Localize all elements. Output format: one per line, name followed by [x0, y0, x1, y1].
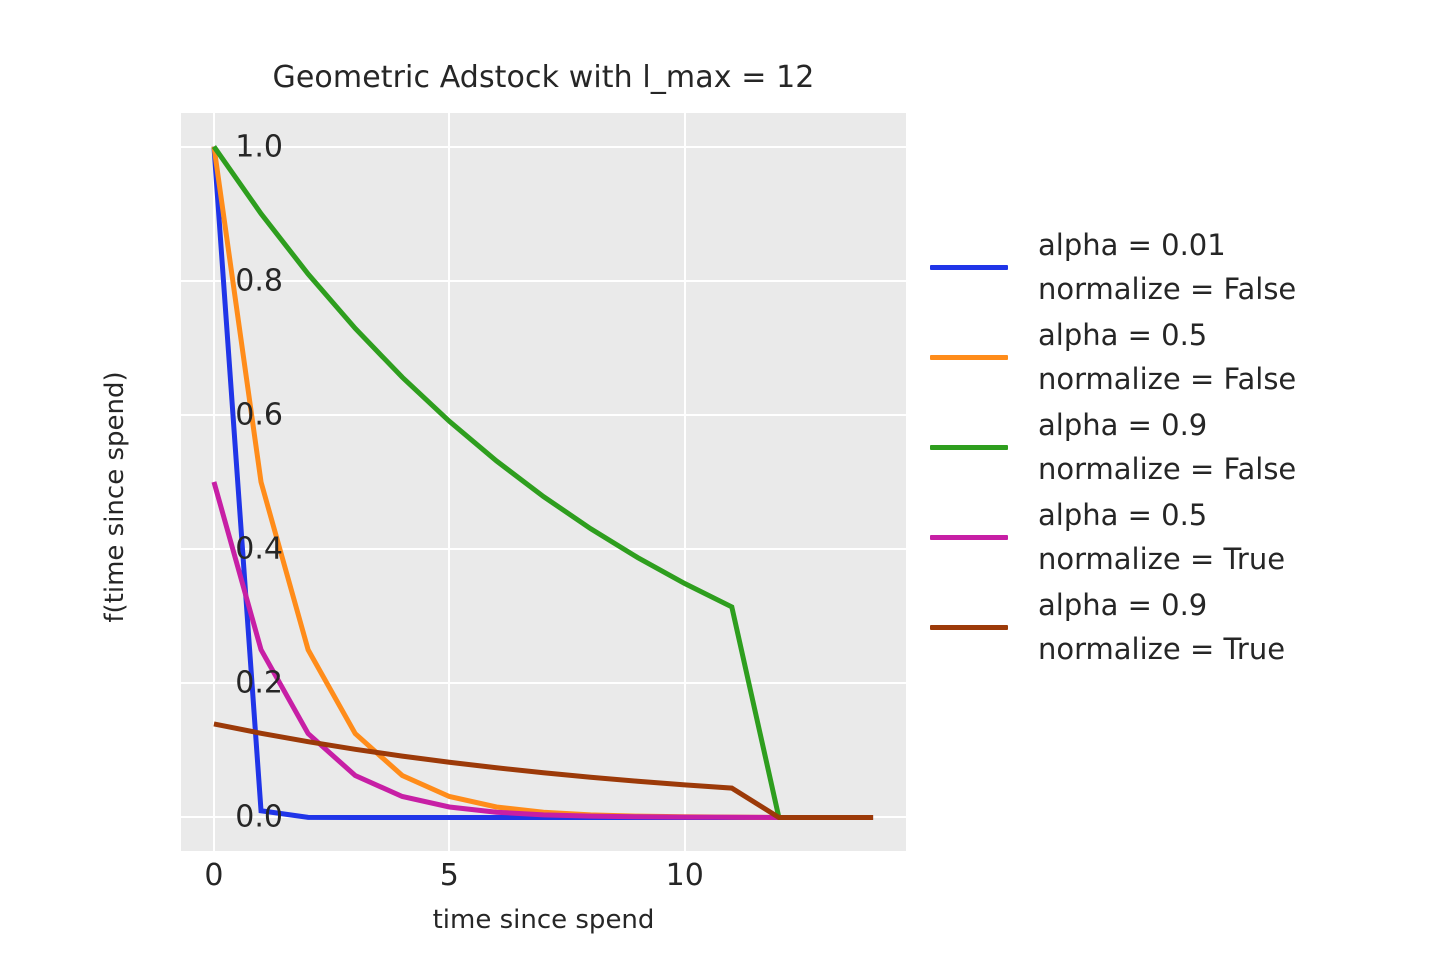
legend-swatch-line-icon: [930, 445, 1008, 450]
y-tick-label: 0.0: [163, 800, 283, 835]
x-tick-label: 10: [625, 858, 745, 893]
legend-item[interactable]: alpha = 0.9normalize = True: [930, 582, 1430, 672]
legend-label: alpha = 0.01normalize = False: [1038, 223, 1296, 311]
x-tick-label: 5: [389, 858, 509, 893]
y-axis-label: f(time since spend): [100, 127, 130, 867]
x-tick-label: 0: [154, 858, 274, 893]
legend-label-normalize: normalize = False: [1038, 447, 1296, 491]
legend-label-normalize: normalize = False: [1038, 357, 1296, 401]
legend-label: alpha = 0.9normalize = True: [1038, 583, 1285, 671]
y-tick-label: 0.6: [163, 397, 283, 432]
legend-label-alpha: alpha = 0.9: [1038, 408, 1207, 442]
y-tick-label: 0.8: [163, 263, 283, 298]
y-tick-label: 0.2: [163, 666, 283, 701]
data-line-0: [214, 147, 873, 818]
chart-title: Geometric Adstock with l_max = 12: [181, 60, 906, 95]
legend-label: alpha = 0.5normalize = True: [1038, 493, 1285, 581]
legend-label: alpha = 0.5normalize = False: [1038, 313, 1296, 401]
chart-legend: alpha = 0.01normalize = Falsealpha = 0.5…: [930, 222, 1430, 672]
legend-label-alpha: alpha = 0.01: [1038, 228, 1226, 262]
legend-item[interactable]: alpha = 0.5normalize = False: [930, 312, 1430, 402]
legend-item[interactable]: alpha = 0.5normalize = True: [930, 492, 1430, 582]
x-axis-label: time since spend: [181, 905, 906, 935]
data-line-1: [214, 147, 873, 818]
legend-item[interactable]: alpha = 0.01normalize = False: [930, 222, 1430, 312]
legend-label-normalize: normalize = True: [1038, 627, 1285, 671]
legend-swatch-line-icon: [930, 355, 1008, 360]
legend-label-normalize: normalize = False: [1038, 267, 1296, 311]
legend-swatch-line-icon: [930, 625, 1008, 630]
plot-area: [181, 113, 906, 851]
legend-label: alpha = 0.9normalize = False: [1038, 403, 1296, 491]
chart-lines: [181, 113, 906, 851]
data-line-3: [214, 482, 873, 818]
y-tick-label: 1.0: [163, 129, 283, 164]
legend-swatch-line-icon: [930, 265, 1008, 270]
legend-label-normalize: normalize = True: [1038, 537, 1285, 581]
legend-item[interactable]: alpha = 0.9normalize = False: [930, 402, 1430, 492]
legend-label-alpha: alpha = 0.5: [1038, 318, 1207, 352]
y-tick-label: 0.4: [163, 532, 283, 567]
legend-swatch-line-icon: [930, 535, 1008, 540]
chart-figure: Geometric Adstock with l_max = 12 0.00.2…: [0, 0, 1440, 960]
data-line-2: [214, 147, 873, 818]
legend-label-alpha: alpha = 0.5: [1038, 498, 1207, 532]
legend-label-alpha: alpha = 0.9: [1038, 588, 1207, 622]
